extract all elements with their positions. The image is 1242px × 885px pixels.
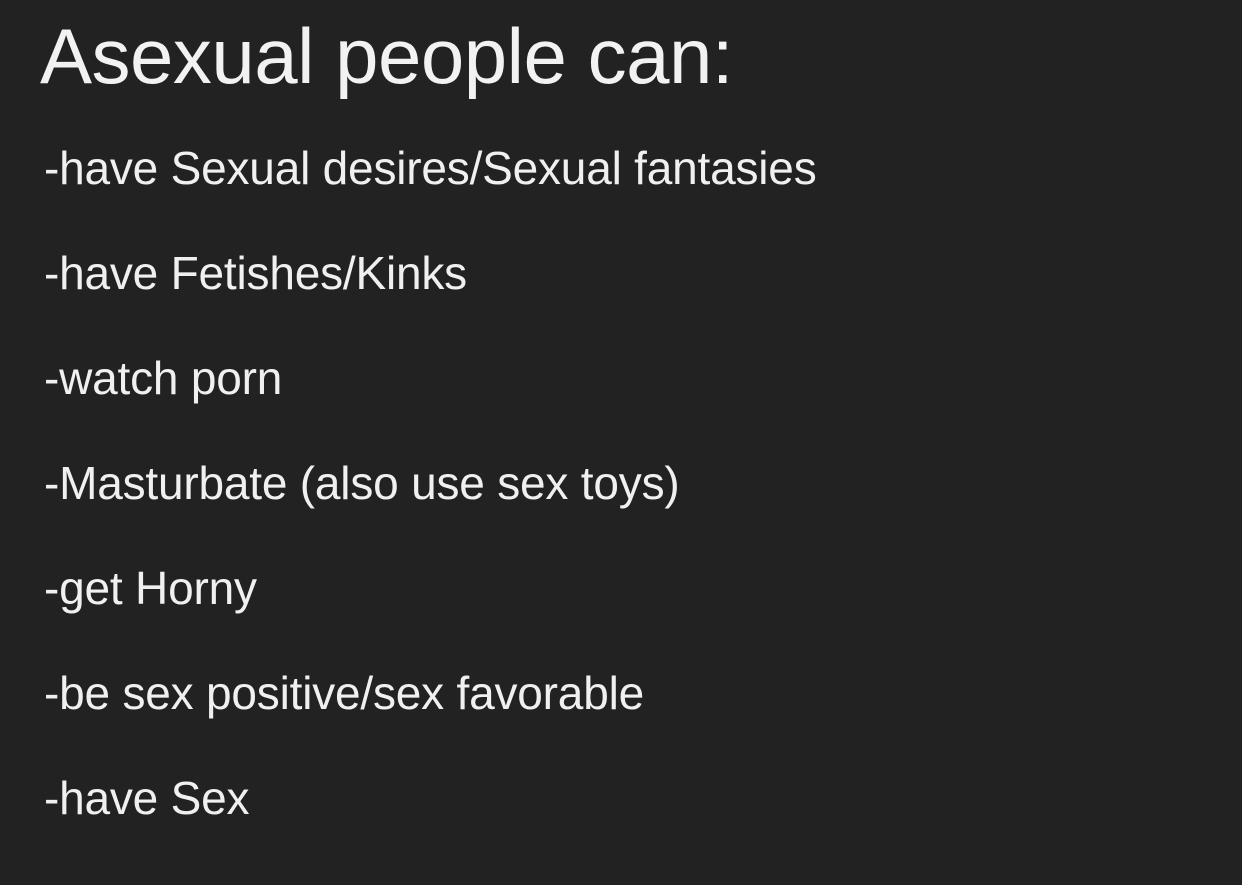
list-item: -have Sex xyxy=(44,770,1222,826)
list-item: -be sex positive/sex favorable xyxy=(44,665,1222,721)
list-item: -Masturbate (also use sex toys) xyxy=(44,455,1222,511)
list-item: -get Horny xyxy=(44,560,1222,616)
text-slide: Asexual people can: -have Sexual desires… xyxy=(0,0,1242,885)
statement-list: -have Sexual desires/Sexual fantasies -h… xyxy=(44,140,1222,826)
page-title: Asexual people can: xyxy=(40,4,733,108)
list-item: -watch porn xyxy=(44,350,1222,406)
list-item: -have Fetishes/Kinks xyxy=(44,245,1222,301)
list-item: -have Sexual desires/Sexual fantasies xyxy=(44,140,1222,196)
